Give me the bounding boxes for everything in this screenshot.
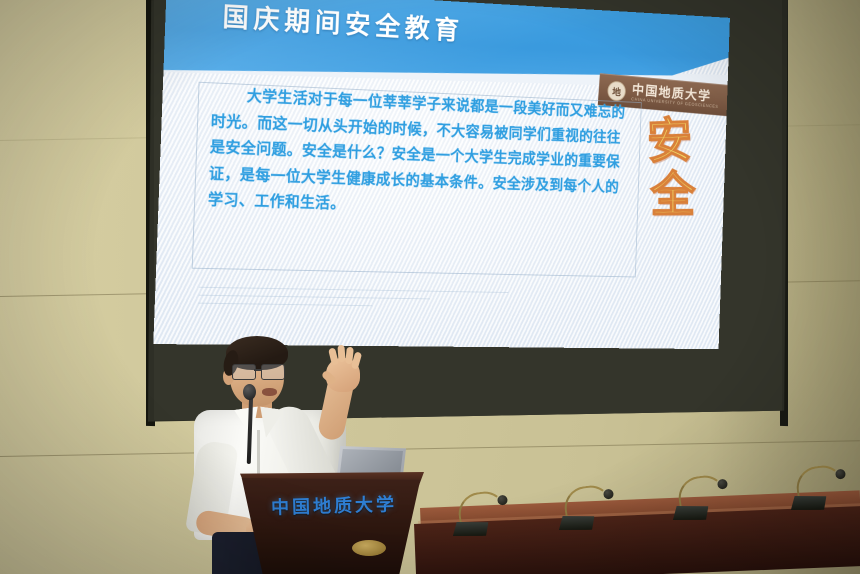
podium-inscription: 中国地质大学 [256, 490, 413, 520]
calligraphy-safety: 安 全 [626, 113, 712, 224]
microphone-capsule-icon [835, 469, 845, 479]
microphone-base [790, 495, 827, 511]
microphone-base [558, 515, 595, 531]
gooseneck-microphone [789, 463, 849, 511]
gooseneck-microphone [557, 483, 617, 531]
footer-rule [199, 295, 431, 300]
speaker-mouth [262, 388, 277, 396]
projected-slide: 国庆期间安全教育 地 中国地质大学 CHINA UNIVERSITY OF GE… [153, 0, 730, 349]
microphone-base [672, 505, 709, 521]
slide-canvas: 国庆期间安全教育 地 中国地质大学 CHINA UNIVERSITY OF GE… [153, 0, 730, 349]
glasses-lens-left [232, 364, 256, 380]
microphone-capsule-icon [717, 479, 727, 489]
speaker-glasses [232, 364, 286, 379]
microphone-capsule-icon [497, 495, 507, 505]
calligraphy-char-an: 安 [628, 113, 712, 170]
podium-microphone-head [243, 384, 256, 400]
podium-emblem [352, 540, 386, 556]
calligraphy-char-quan: 全 [632, 168, 714, 222]
footer-rule [198, 303, 372, 307]
university-logo-text: 中国地质大学 CHINA UNIVERSITY OF GEOSCIENCES [631, 82, 719, 109]
microphone-base [452, 521, 489, 537]
glasses-lens-right [261, 364, 285, 380]
slide-body-text: 大学生活对于每一位莘莘学子来说都是一段美好而又难忘的时光。而这一切从头开始的时候… [207, 82, 634, 225]
glasses-bridge [254, 369, 261, 371]
slide-footer-rules [198, 287, 508, 315]
speaker-finger [337, 345, 345, 362]
gooseneck-microphone [451, 489, 511, 537]
lecture-photo-scene: 国庆期间安全教育 地 中国地质大学 CHINA UNIVERSITY OF GE… [0, 0, 860, 574]
gooseneck-microphone [671, 473, 731, 521]
microphone-capsule-icon [603, 489, 613, 499]
university-seal-icon: 地 [607, 80, 627, 101]
